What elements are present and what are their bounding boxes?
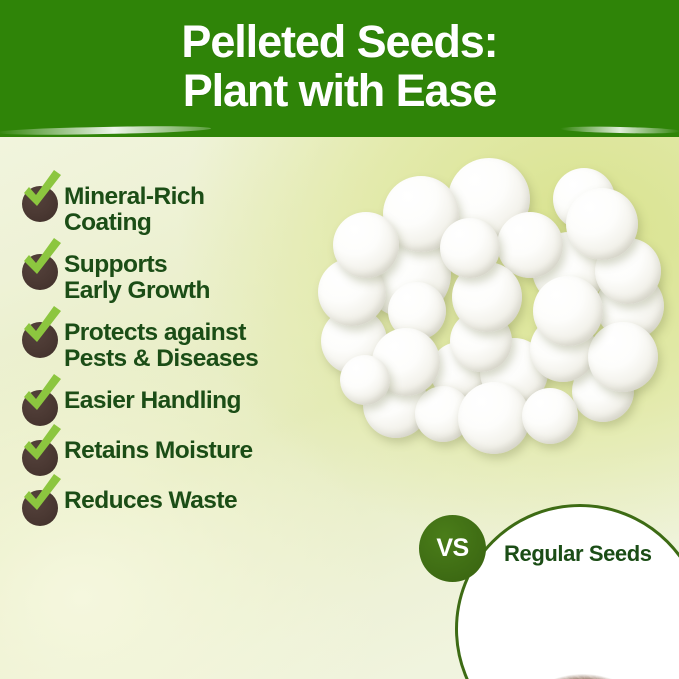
infographic-canvas: Pelleted Seeds: Plant with Ease Mineral-…: [0, 0, 679, 679]
check-mark-icon: [18, 246, 64, 290]
regular-seeds-image: [455, 605, 679, 679]
seed-texture: [455, 605, 679, 679]
pellet: [588, 322, 658, 392]
check-glyph: [16, 472, 64, 520]
regular-seeds-circle: Regular Seeds: [455, 504, 679, 679]
page-title-line2: Plant with Ease: [0, 66, 679, 115]
check-glyph: [16, 372, 64, 420]
list-item-label: Supports Early Growth: [64, 246, 210, 304]
check-glyph: [16, 236, 64, 284]
pellet: [340, 355, 390, 405]
check-mark-icon: [18, 432, 64, 476]
pellet: [440, 218, 500, 278]
list-item-line1: Mineral-Rich: [64, 183, 204, 210]
regular-seeds-label: Regular Seeds: [504, 541, 652, 567]
pellet: [522, 388, 578, 444]
check-mark-icon: [18, 314, 64, 358]
list-item-label: Mineral-Rich Coating: [64, 178, 204, 236]
pellet: [458, 382, 530, 454]
list-item-label: Retains Moisture: [64, 432, 253, 464]
list-item-line2: Coating: [64, 209, 151, 236]
list-item-line1: Supports: [64, 251, 167, 278]
check-mark-icon: [18, 482, 64, 526]
check-mark-icon: [18, 178, 64, 222]
page-title-line1: Pelleted Seeds:: [181, 16, 497, 67]
pellet: [333, 212, 399, 278]
pelleted-seeds-image: [300, 150, 679, 522]
list-item-line2: Pests & Diseases: [64, 345, 258, 372]
vs-badge-label: VS: [436, 536, 468, 561]
pellet: [566, 188, 638, 260]
check-glyph: [16, 304, 64, 352]
page-title: Pelleted Seeds: Plant with Ease: [0, 17, 679, 115]
list-item-line1: Protects against: [64, 319, 246, 346]
list-item-label: Easier Handling: [64, 382, 241, 414]
check-mark-icon: [18, 382, 64, 426]
list-item-label: Reduces Waste: [64, 482, 237, 514]
check-glyph: [16, 168, 64, 216]
list-item-line2: Early Growth: [64, 277, 210, 304]
list-item-label: Protects against Pests & Diseases: [64, 314, 258, 372]
pellet: [533, 276, 603, 346]
check-glyph: [16, 422, 64, 470]
vs-badge: VS: [419, 515, 486, 582]
header-banner: Pelleted Seeds: Plant with Ease: [0, 0, 679, 137]
